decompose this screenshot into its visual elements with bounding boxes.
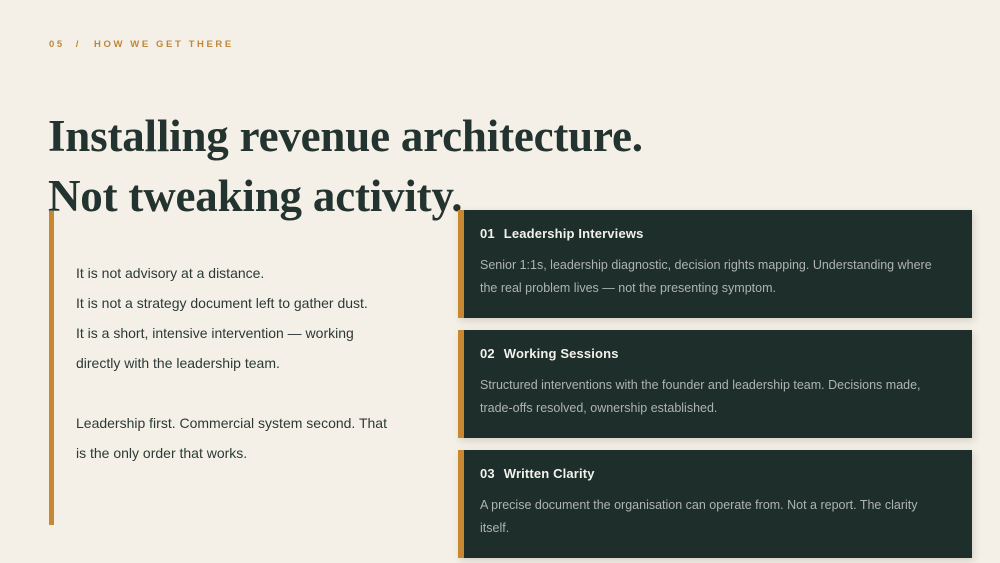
step-cards-list: 01 Leadership Interviews Senior 1:1s, le… bbox=[458, 210, 972, 558]
left-paragraph-1-line-4: directly with the leadership team. bbox=[76, 348, 441, 378]
step-card-heading-02: Working Sessions bbox=[504, 346, 619, 361]
left-text-column: It is not advisory at a distance. It is … bbox=[76, 258, 441, 468]
step-card-title-01: 01 Leadership Interviews bbox=[480, 226, 950, 241]
step-card-heading-01: Leadership Interviews bbox=[504, 226, 644, 241]
left-paragraph-1: It is not advisory at a distance. It is … bbox=[76, 258, 441, 378]
card-accent-bar-03 bbox=[458, 450, 464, 558]
left-paragraph-1-line-3: It is a short, intensive intervention — … bbox=[76, 318, 441, 348]
step-card-body-01: Senior 1:1s, leadership diagnostic, deci… bbox=[480, 254, 950, 300]
page-title: Installing revenue architecture. Not twe… bbox=[48, 106, 708, 226]
step-card-02: 02 Working Sessions Structured intervent… bbox=[458, 330, 972, 438]
step-card-title-02: 02 Working Sessions bbox=[480, 346, 950, 361]
left-paragraph-2: Leadership first. Commercial system seco… bbox=[76, 408, 441, 468]
step-card-body-02: Structured interventions with the founde… bbox=[480, 374, 950, 420]
step-card-number-01: 01 bbox=[480, 226, 495, 241]
step-card-title-03: 03 Written Clarity bbox=[480, 466, 950, 481]
step-card-body-03: A precise document the organisation can … bbox=[480, 494, 950, 540]
page-title-line-1: Installing revenue architecture. bbox=[48, 106, 708, 166]
step-card-number-02: 02 bbox=[480, 346, 495, 361]
step-card-03: 03 Written Clarity A precise document th… bbox=[458, 450, 972, 558]
left-accent-rule bbox=[49, 211, 54, 525]
left-paragraph-2-line-2: is the only order that works. bbox=[76, 438, 441, 468]
left-paragraph-2-line-1: Leadership first. Commercial system seco… bbox=[76, 408, 441, 438]
slide: 05 / HOW WE GET THERE Installing revenue… bbox=[0, 0, 1000, 563]
left-paragraph-1-line-2: It is not a strategy document left to ga… bbox=[76, 288, 441, 318]
left-paragraph-1-line-1: It is not advisory at a distance. bbox=[76, 258, 441, 288]
step-card-number-03: 03 bbox=[480, 466, 495, 481]
step-card-heading-03: Written Clarity bbox=[504, 466, 595, 481]
section-label: HOW WE GET THERE bbox=[94, 39, 234, 50]
eyebrow-separator: / bbox=[76, 39, 81, 50]
section-eyebrow: 05 / HOW WE GET THERE bbox=[49, 39, 234, 50]
step-card-01: 01 Leadership Interviews Senior 1:1s, le… bbox=[458, 210, 972, 318]
section-number: 05 bbox=[49, 39, 65, 50]
card-accent-bar-02 bbox=[458, 330, 464, 438]
card-accent-bar-01 bbox=[458, 210, 464, 318]
